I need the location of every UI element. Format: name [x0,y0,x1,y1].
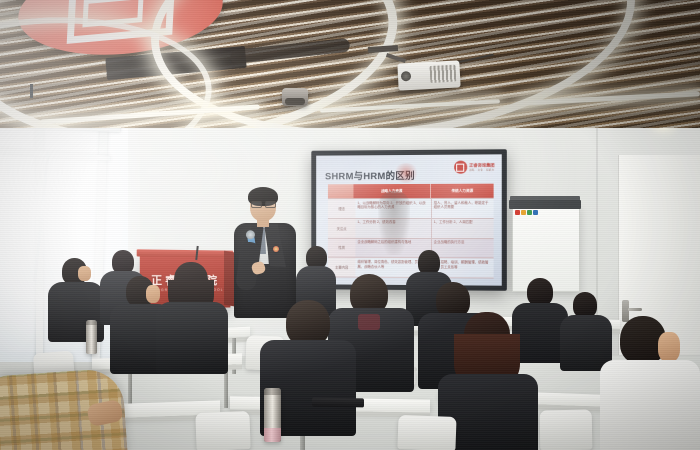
marker-orange-icon [521,210,526,215]
seminar-room-photo: SHRM与HRM的区别 正睿咨询集团 战略 · 文化 · 组织力 战略人力资源 … [0,0,700,450]
projector-lens-icon [401,71,412,82]
table-row: 理念 1、以战略解码为导向 2、开放的组织 3、以战略目标为核心的人力资源 招人… [328,199,494,219]
lapel-pin-icon [273,246,279,252]
screen-reflection-presenter [378,191,410,255]
classroom-chair[interactable] [195,411,250,450]
thermos-flask [86,320,97,354]
notebook-on-table [312,398,364,408]
marker-green-icon [527,210,532,215]
screen-reflection-highlight [393,163,419,183]
thermos-base [264,428,281,442]
marker-tray [515,210,538,215]
marker-blue-icon [533,210,538,215]
attendee-head [527,278,553,306]
attendee-woman-dark [156,262,228,368]
flipchart-leg [30,84,33,98]
attendee-white-shirt-torso [600,360,700,450]
row-label: 理念 [328,199,356,218]
eyeglasses-icon [251,201,276,206]
presenter [232,190,298,318]
podium-top [137,249,234,257]
classroom-chair[interactable] [397,415,456,450]
row-cell-traditional: 招人、育人、留人和裁人，职能定于组织人员需要 [431,199,494,218]
ceiling-shading [0,0,700,128]
thermos-flask [264,388,281,442]
marker-red-icon [515,210,520,215]
slide-logo-badge-icon [454,161,467,174]
slide-logo-subtext: 战略 · 文化 · 组织力 [469,168,494,172]
attendee-face [78,266,91,281]
projector-vent [430,65,457,83]
ceiling-spotlight-icon [282,88,308,106]
attendee-face [658,332,680,362]
attendee-collar [358,314,380,330]
table-header-cell: 传统人力资源 [430,184,493,198]
attendee-suit [156,302,228,374]
slide-corner-logo: 正睿咨询集团 战略 · 文化 · 组织力 [454,160,495,173]
ceiling-projector [397,60,460,90]
table-header-row: 战略人力资源 传统人力资源 [328,184,494,200]
table-header-cell [328,184,354,198]
flipchart-clamp [509,200,581,209]
table-row: 关注点 1、工作分析 2、绩效改善 1、工作分析 2、人岗匹配 [328,219,494,239]
attendee-white-shirt [600,316,700,450]
wood-slat-ceiling [0,0,700,128]
classroom-chair[interactable] [540,410,593,450]
row-cell-traditional: 1、工作分析 2、人岗匹配 [431,219,494,238]
row-label: 关注点 [328,219,356,238]
